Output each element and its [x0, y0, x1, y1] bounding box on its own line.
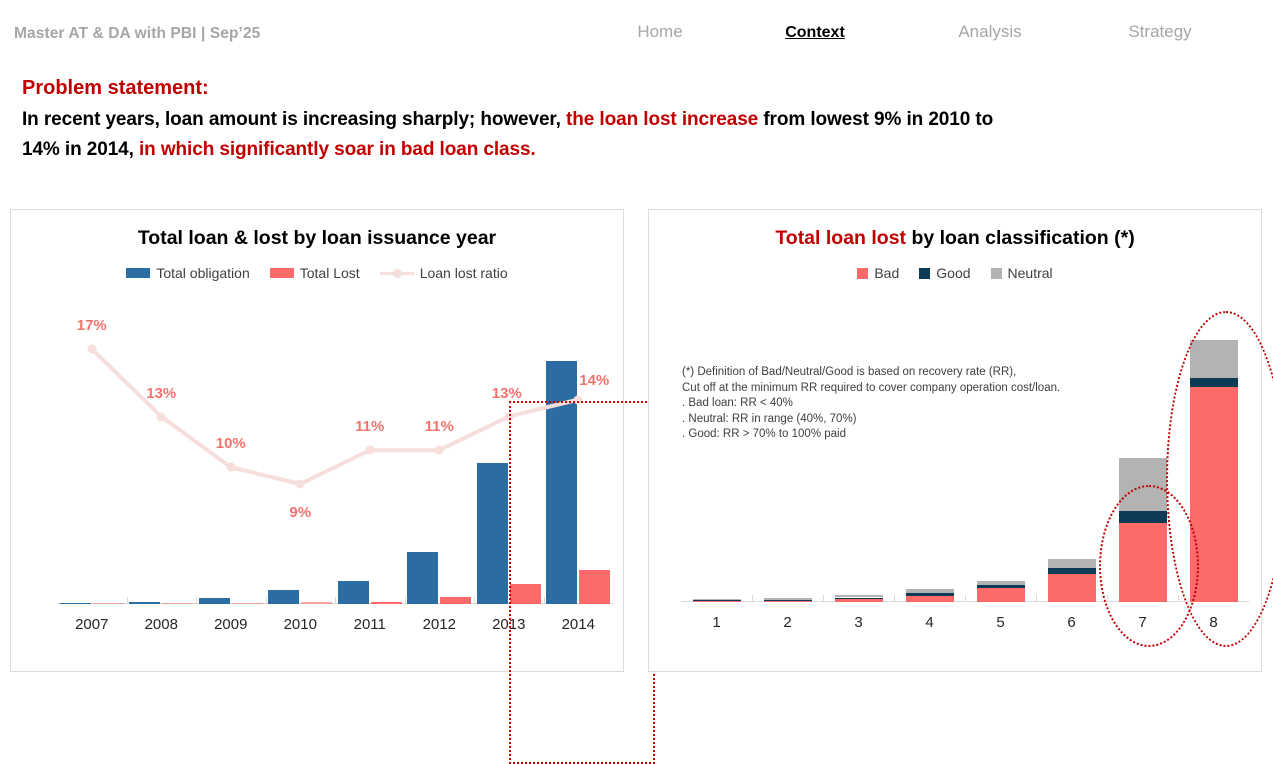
tick-divider — [474, 597, 475, 604]
bar-total-obligation-2011[interactable] — [338, 581, 369, 604]
bar-total-obligation-2007[interactable] — [60, 603, 91, 604]
x-axis-label-2008: 2008 — [145, 616, 178, 633]
nav-item-analysis[interactable]: Analysis — [930, 22, 1050, 42]
line-marker-2010[interactable] — [296, 480, 305, 489]
bar-neutral-4[interactable] — [906, 589, 954, 594]
bar-bad-6[interactable] — [1048, 574, 1096, 602]
legend-label-neutral: Neutral — [1008, 265, 1053, 281]
x-axis-label-3: 3 — [854, 614, 862, 631]
line-marker-2007[interactable] — [87, 345, 96, 354]
bar-bad-1[interactable] — [693, 601, 741, 602]
ratio-label-2014: 14% — [579, 372, 609, 389]
right-chart-title-highlight: Total loan lost — [775, 227, 906, 249]
bar-neutral-2[interactable] — [764, 598, 812, 599]
bar-bad-5[interactable] — [977, 588, 1025, 602]
legend-label-total-obligation: Total obligation — [156, 265, 249, 281]
bar-neutral-1[interactable] — [693, 599, 741, 600]
chart-panel-total-loan-lost-by-classification: Total loan lost by loan classification (… — [648, 209, 1262, 672]
tick-divider — [405, 597, 406, 604]
ratio-label-2007: 17% — [77, 317, 107, 334]
tick-divider — [1036, 595, 1037, 602]
problem-statement-heading: Problem statement: — [22, 76, 1257, 100]
legend-item-loan-lost-ratio[interactable]: Loan lost ratio — [380, 265, 508, 281]
ratio-label-2010: 9% — [289, 504, 311, 521]
bar-good-5[interactable] — [977, 585, 1025, 588]
page-header: Master AT & DA with PBI | Sep’25 Home Co… — [0, 0, 1273, 68]
chart-panel-total-loan-and-lost: Total loan & lost by loan issuance year … — [10, 209, 624, 672]
nav-item-strategy[interactable]: Strategy — [1100, 22, 1220, 42]
bar-neutral-3[interactable] — [835, 595, 883, 598]
bar-bad-3[interactable] — [835, 599, 883, 602]
legend-label-total-lost: Total Lost — [300, 265, 360, 281]
bar-neutral-5[interactable] — [977, 581, 1025, 585]
bar-good-4[interactable] — [906, 593, 954, 596]
legend-label-loan-lost-ratio: Loan lost ratio — [420, 265, 508, 281]
legend-item-bad[interactable]: Bad — [857, 265, 899, 281]
bar-total-obligation-2012[interactable] — [407, 552, 438, 604]
left-chart-plot-area: 17%13%10%9%11%11%13%14% 2007200820092010… — [57, 305, 613, 638]
tick-divider — [196, 597, 197, 604]
legend-swatch-total-lost — [270, 268, 294, 278]
line-marker-2008[interactable] — [157, 412, 166, 421]
highlight-rectangle-2013-2014 — [509, 401, 655, 764]
bar-total-obligation-2008[interactable] — [129, 602, 160, 605]
x-axis-label-2007: 2007 — [75, 616, 108, 633]
x-axis-label-1: 1 — [712, 614, 720, 631]
bar-good-2[interactable] — [764, 600, 812, 601]
legend-item-good[interactable]: Good — [919, 265, 970, 281]
x-axis-label-2011: 2011 — [354, 616, 386, 633]
x-axis-label-6: 6 — [1067, 614, 1075, 631]
legend-label-good: Good — [936, 265, 970, 281]
line-marker-2011[interactable] — [365, 446, 374, 455]
legend-swatch-neutral — [991, 268, 1002, 279]
legend-label-bad: Bad — [874, 265, 899, 281]
bar-total-lost-2010[interactable] — [301, 602, 332, 604]
bar-neutral-6[interactable] — [1048, 559, 1096, 568]
x-axis-label-2012: 2012 — [423, 616, 456, 633]
legend-swatch-bad — [857, 268, 868, 279]
bar-good-6[interactable] — [1048, 568, 1096, 574]
nav-item-context[interactable]: Context — [755, 24, 875, 42]
ratio-label-2009: 10% — [216, 435, 246, 452]
right-chart-title-rest: by loan classification (*) — [906, 227, 1135, 249]
top-navigation: Home Context Analysis Strategy — [600, 22, 1260, 58]
x-axis-label-2: 2 — [783, 614, 791, 631]
x-axis-label-5: 5 — [996, 614, 1004, 631]
tick-divider — [894, 595, 895, 602]
statement-highlight-2: in which significantly soar in bad loan … — [139, 139, 536, 160]
ratio-label-2011: 11% — [355, 418, 384, 435]
bar-total-obligation-2013[interactable] — [477, 463, 508, 604]
bar-total-obligation-2010[interactable] — [268, 590, 299, 604]
tick-divider — [823, 595, 824, 602]
deck-title: Master AT & DA with PBI | Sep’25 — [14, 25, 260, 43]
legend-swatch-good — [919, 268, 930, 279]
legend-swatch-total-obligation — [126, 268, 150, 278]
tick-divider — [266, 597, 267, 604]
bar-total-lost-2007[interactable] — [93, 603, 124, 604]
right-chart-legend: Bad Good Neutral — [649, 265, 1261, 281]
bar-bad-2[interactable] — [764, 601, 812, 603]
left-chart-title: Total loan & lost by loan issuance year — [11, 227, 623, 250]
x-axis-label-2010: 2010 — [284, 616, 317, 633]
ratio-label-2012: 11% — [425, 418, 454, 435]
right-chart-title: Total loan lost by loan classification (… — [649, 227, 1261, 250]
problem-statement: Problem statement: In recent years, loan… — [22, 76, 1257, 165]
left-chart-legend: Total obligation Total Lost Loan lost ra… — [11, 265, 623, 281]
x-axis-label-2009: 2009 — [214, 616, 247, 633]
legend-item-total-lost[interactable]: Total Lost — [270, 265, 360, 281]
ratio-label-2008: 13% — [146, 385, 176, 402]
tick-divider — [752, 595, 753, 602]
x-axis-label-4: 4 — [925, 614, 933, 631]
bar-total-lost-2008[interactable] — [162, 603, 193, 604]
statement-text-1: In recent years, loan amount is increasi… — [22, 109, 566, 130]
legend-item-neutral[interactable]: Neutral — [991, 265, 1053, 281]
statement-text-3: 14% in 2014, — [22, 139, 139, 160]
bar-total-obligation-2009[interactable] — [199, 598, 230, 604]
tick-divider — [335, 597, 336, 604]
ratio-label-2013: 13% — [492, 385, 522, 402]
bar-bad-4[interactable] — [906, 596, 954, 602]
bar-total-lost-2009[interactable] — [232, 603, 263, 604]
problem-statement-body: In recent years, loan amount is increasi… — [22, 105, 1257, 165]
tick-divider — [127, 597, 128, 604]
bar-total-lost-2011[interactable] — [371, 602, 402, 605]
bar-total-lost-2012[interactable] — [440, 597, 471, 604]
tick-divider — [965, 595, 966, 602]
bar-good-3[interactable] — [835, 598, 883, 600]
legend-swatch-loan-lost-ratio — [380, 268, 414, 278]
line-marker-2012[interactable] — [435, 446, 444, 455]
bar-good-1[interactable] — [693, 600, 741, 601]
legend-item-total-obligation[interactable]: Total obligation — [126, 265, 249, 281]
right-chart-plot-area: 12345678 — [681, 305, 1249, 636]
nav-item-home[interactable]: Home — [600, 22, 720, 42]
statement-highlight-1: the loan lost increase — [566, 109, 758, 130]
statement-text-2: from lowest 9% in 2010 to — [758, 109, 993, 130]
line-marker-2009[interactable] — [226, 463, 235, 472]
